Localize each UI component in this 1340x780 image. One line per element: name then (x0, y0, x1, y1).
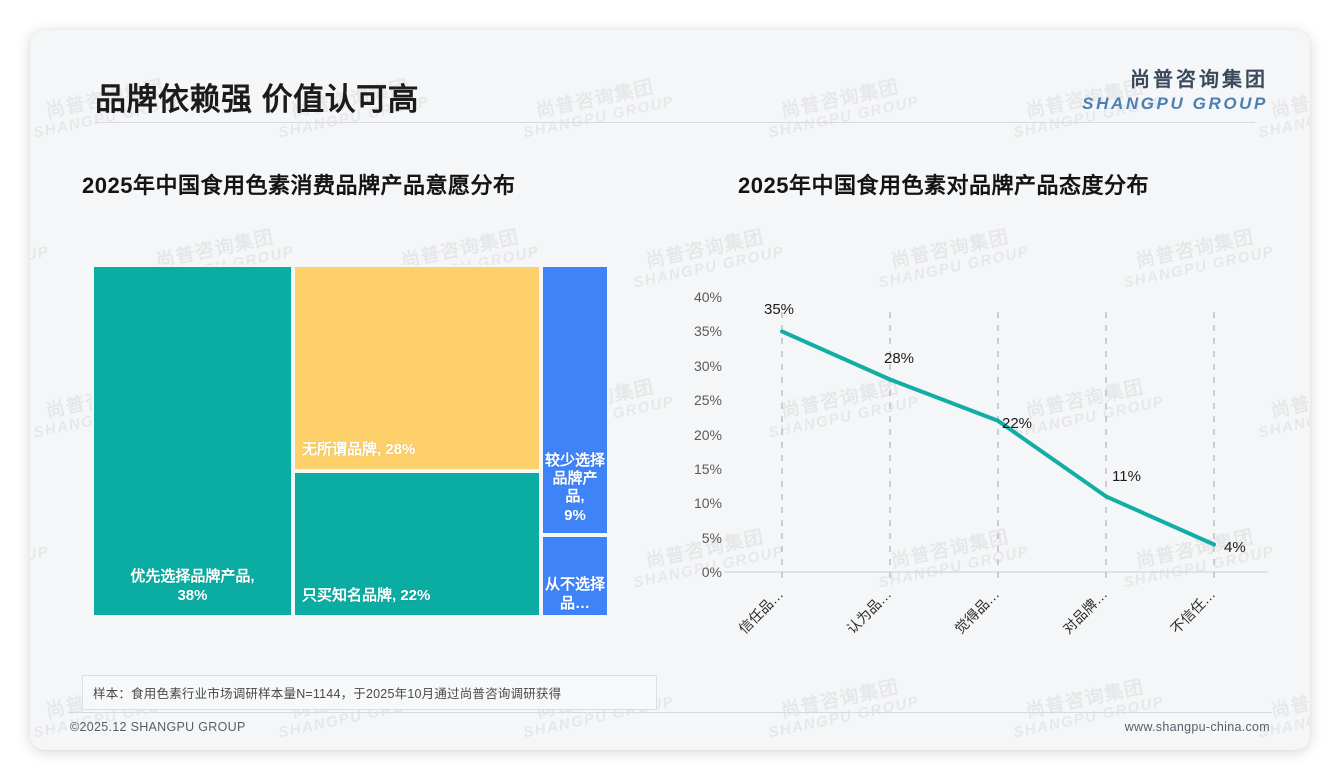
treemap-cell-label: 只买知名品牌, 22% (302, 587, 430, 605)
treemap-cell-rarely-brand[interactable]: 较少选择品牌产品, 9% (541, 265, 609, 535)
treemap-cell-label: 优先选择品牌产品, 38% (130, 568, 254, 605)
watermark-text: 尚普咨询集团SHANGPU GROUP (518, 74, 676, 141)
data-point-label: 35% (764, 301, 794, 318)
line-chart-title: 2025年中国食用色素对品牌产品态度分布 (738, 168, 1149, 200)
treemap-cell-name: 优先选择品牌产品, (130, 568, 254, 585)
treemap-cell-label: 较少选择品牌产品, 9% (543, 452, 607, 525)
slide-canvas: 尚普咨询集团SHANGPU GROUP尚普咨询集团SHANGPU GROUP尚普… (30, 30, 1310, 750)
sample-footnote: 样本：食用色素行业市场调研样本量N=1144，于2025年10月通过尚普咨询调研… (82, 675, 657, 710)
brand-logo-cn: 尚普咨询集团 (1082, 63, 1268, 92)
watermark-text: 尚普咨询集团SHANGPU GROUP (30, 524, 51, 591)
treemap-cell-value: 38% (177, 587, 207, 604)
watermark-text: 尚普咨询集团SHANGPU GROUP (30, 224, 51, 291)
treemap-cell-label: 无所谓品牌, 28% (302, 441, 415, 459)
watermark-text: 尚普咨询集团SHANGPU GROUP (763, 674, 921, 741)
line-chart: 0%5%10%15%20%25%30%35%40% 信任品…认为品…觉得品…对品… (660, 265, 1280, 650)
treemap-cell-brand-indifferent[interactable]: 无所谓品牌, 28% (293, 265, 541, 471)
treemap-cell-value: 9% (564, 507, 586, 524)
header-divider (95, 122, 1255, 123)
treemap-chart-title: 2025年中国食用色素消费品牌产品意愿分布 (82, 168, 515, 200)
data-point-label: 4% (1224, 539, 1246, 556)
data-point-label: 28% (884, 350, 914, 367)
footer-divider (68, 712, 1272, 713)
watermark-text: 尚普咨询集团SHANGPU GROUP (763, 74, 921, 141)
footer-website-url[interactable]: www.shangpu-china.com (1125, 720, 1270, 734)
data-point-label: 22% (1002, 415, 1032, 432)
treemap-cell-preferred-brand[interactable]: 优先选择品牌产品, 38% (92, 265, 293, 617)
data-point-label: 11% (1112, 468, 1141, 485)
brand-logo-en: SHANGPU GROUP (1082, 94, 1268, 114)
footer-copyright: ©2025.12 SHANGPU GROUP (70, 720, 246, 734)
page-title: 品牌依赖强 价值认可高 (95, 74, 419, 119)
treemap-chart: 优先选择品牌产品, 38% 无所谓品牌, 28% 只买知名品牌, 22% 较少选… (92, 265, 609, 617)
treemap-cell-never-brand[interactable]: 从不选择品… (541, 535, 609, 617)
treemap-cell-label: 从不选择品… (543, 576, 607, 613)
brand-logo: 尚普咨询集团 SHANGPU GROUP (1082, 63, 1268, 114)
treemap-cell-famous-brand-only[interactable]: 只买知名品牌, 22% (293, 471, 541, 617)
line-chart-plot (660, 265, 1280, 650)
treemap-cell-name: 较少选择品牌产品, (545, 452, 605, 506)
